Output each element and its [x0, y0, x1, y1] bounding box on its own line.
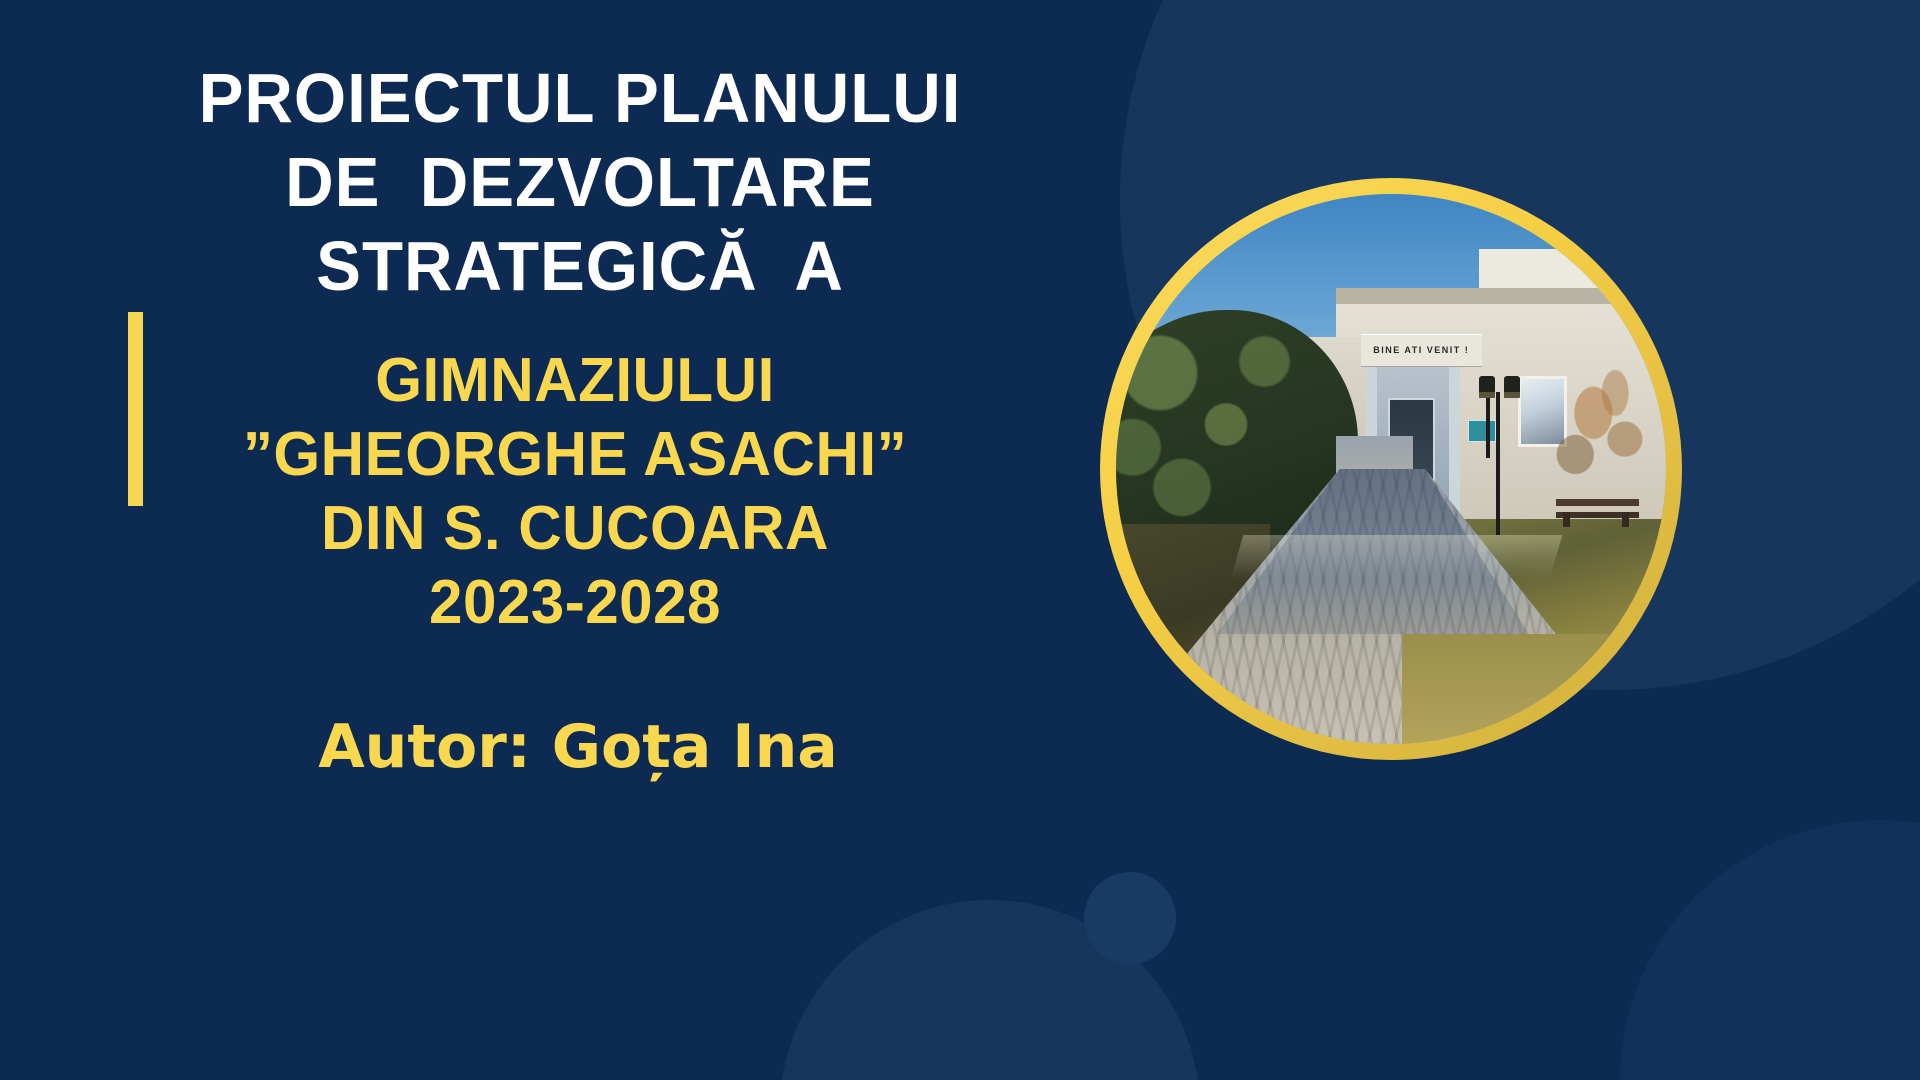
photo-sunlight-patch — [1231, 535, 1563, 579]
subtitle-line-2: ”GHEORGHE ASACHI” — [95, 418, 1055, 492]
school-building-photo: BINE ATI VENIT ! — [1116, 194, 1666, 744]
photo-bench — [1556, 499, 1639, 527]
photo-welcome-sign-text: BINE ATI VENIT ! — [1373, 345, 1469, 355]
photo-lamp-arm-left — [1486, 392, 1490, 458]
slide-text-block: PROIECTUL PLANULUI DE DEZVOLTARE STRATEG… — [60, 56, 1070, 782]
photo-ring-frame: BINE ATI VENIT ! — [1100, 178, 1682, 760]
photo-grass-bottom — [1402, 634, 1666, 744]
subtitle-line-1: GIMNAZIULUI — [95, 344, 1055, 418]
photo-tree — [1545, 359, 1666, 513]
title-line-3: STRATEGICĂ A — [110, 224, 1051, 308]
photo-lamp-pole-main — [1496, 392, 1500, 535]
subtitle-line-4: 2023-2028 — [95, 566, 1055, 640]
background-circle-small — [1084, 872, 1176, 964]
photo-welcome-sign: BINE ATI VENIT ! — [1361, 334, 1482, 366]
photo-building-roofline — [1336, 288, 1666, 305]
photo-bench-leg-right — [1622, 512, 1629, 527]
photo-teal-plaque — [1468, 420, 1496, 442]
page-title: PROIECTUL PLANULUI DE DEZVOLTARE STRATEG… — [90, 56, 1070, 308]
photo-bench-back — [1556, 499, 1639, 506]
subtitle-line-3: DIN S. CUCOARA — [95, 492, 1055, 566]
photo-lamp-head-left — [1479, 376, 1495, 398]
page-subtitle: GIMNAZIULUI ”GHEORGHE ASACHI” DIN S. CUC… — [80, 344, 1070, 640]
author-credit: Autor: Goța Ina — [86, 712, 1070, 782]
title-line-1: PROIECTUL PLANULUI — [110, 56, 1051, 140]
photo-bench-leg-left — [1563, 512, 1570, 527]
title-line-2: DE DEZVOLTARE — [110, 140, 1051, 224]
presentation-slide: PROIECTUL PLANULUI DE DEZVOLTARE STRATEG… — [0, 0, 1920, 1080]
photo-entrance-column-right — [1449, 359, 1460, 524]
photo-lamp-head-right — [1504, 376, 1520, 398]
background-circle-bottom-right — [1620, 820, 1920, 1080]
